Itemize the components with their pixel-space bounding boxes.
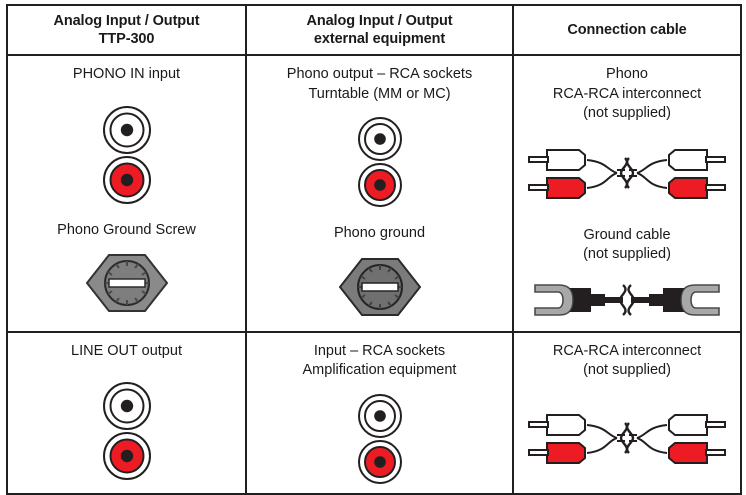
header-cell-connection-cable: Connection cable [513, 5, 741, 55]
table-header-row: Analog Input / Output TTP-300 Analog Inp… [7, 5, 741, 55]
table-row: LINE OUT output [7, 332, 741, 494]
rca-socket-pair-icon [253, 393, 506, 485]
input-rca-label-line1: Input – RCA sockets [253, 342, 506, 362]
phono-output-label-line2: Turntable (MM or MC) [253, 85, 506, 105]
connection-table: Analog Input / Output TTP-300 Analog Inp… [6, 4, 742, 495]
header-cell-external-equipment: Analog Input / Output external equipment [246, 5, 513, 55]
rca-socket-pair-icon [14, 381, 239, 481]
header-line-1: Connection cable [567, 21, 686, 39]
phono-cable-label-line2: RCA-RCA interconnect [520, 85, 734, 105]
phono-cable-label-line1: Phono [520, 65, 734, 85]
header-line-2: external equipment [314, 30, 445, 48]
line-out-label: LINE OUT output [14, 342, 239, 362]
header-line-1: Analog Input / Output [53, 12, 199, 30]
cell-connection-cable-phono: Phono RCA-RCA interconnect (not supplied… [513, 55, 741, 332]
ground-screw-icon [253, 256, 506, 318]
connection-table-figure: Analog Input / Output TTP-300 Analog Inp… [0, 4, 746, 489]
phono-ground-label: Phono ground [253, 224, 506, 244]
ground-spade-cable-icon [520, 277, 734, 323]
table-row: PHONO IN input [7, 55, 741, 332]
rca-rca-cable-icon [520, 136, 734, 210]
phono-ground-screw-label: Phono Ground Screw [14, 221, 239, 241]
rca-cable-label-line1: RCA-RCA interconnect [520, 342, 734, 362]
rca-socket-pair-icon [253, 116, 506, 208]
input-rca-label-line2: Amplification equipment [253, 361, 506, 381]
rca-cable-label-line2: (not supplied) [520, 361, 734, 381]
ground-screw-icon [14, 252, 239, 314]
phono-output-label-line1: Phono output – RCA sockets [253, 65, 506, 85]
header-cell-ttp300: Analog Input / Output TTP-300 [7, 5, 246, 55]
rca-socket-pair-icon [14, 105, 239, 205]
cell-input-amplification: Input – RCA sockets Amplification equipm… [246, 332, 513, 494]
header-line-1: Analog Input / Output [306, 12, 452, 30]
rca-rca-cable-icon [520, 401, 734, 475]
ground-cable-label-line1: Ground cable [520, 226, 734, 246]
header-line-2: TTP-300 [99, 30, 155, 48]
cell-phono-output-external: Phono output – RCA sockets Turntable (MM… [246, 55, 513, 332]
phono-in-label: PHONO IN input [14, 65, 239, 85]
cell-line-out-output: LINE OUT output [7, 332, 246, 494]
phono-cable-label-line3: (not supplied) [520, 104, 734, 124]
cell-connection-cable-line-out: RCA-RCA interconnect (not supplied) [513, 332, 741, 494]
cell-phono-in-input: PHONO IN input [7, 55, 246, 332]
ground-cable-label-line2: (not supplied) [520, 245, 734, 265]
